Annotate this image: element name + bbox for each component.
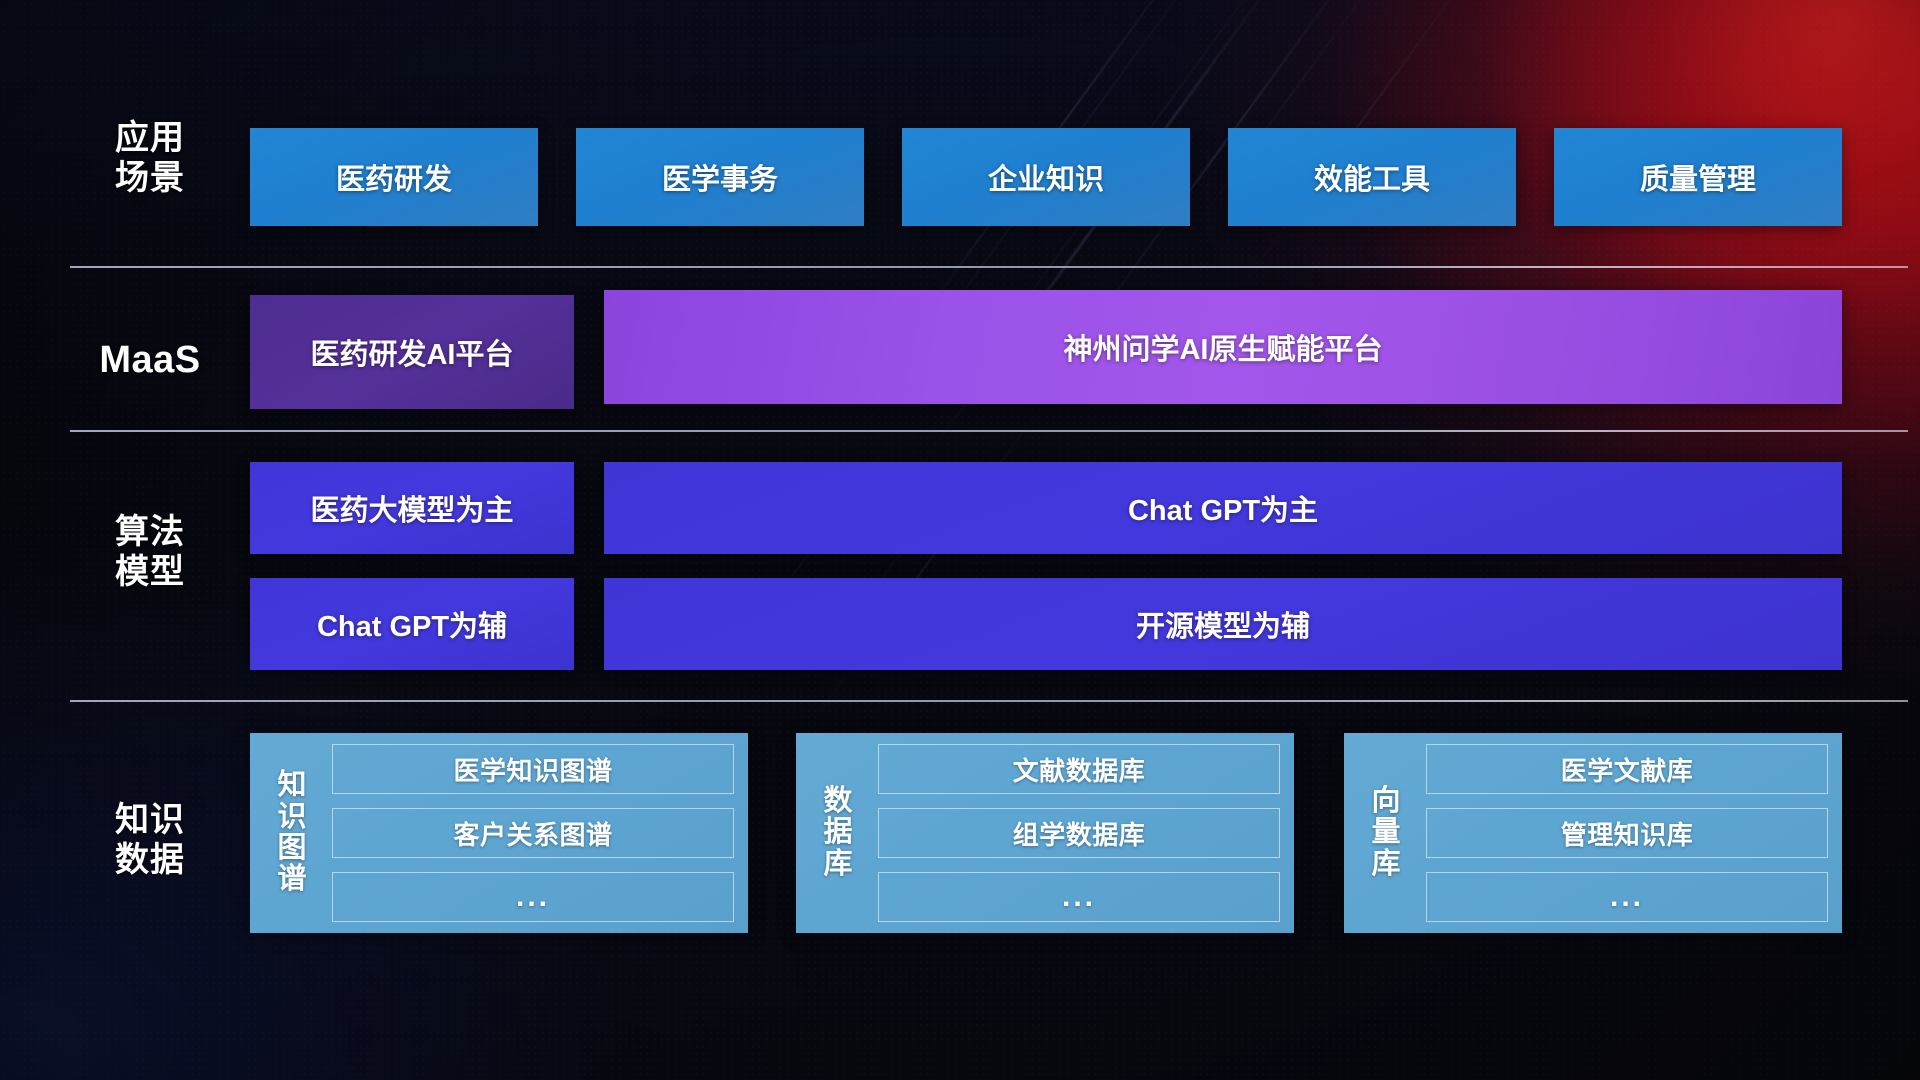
algo-right-box-1[interactable]: Chat GPT为主 bbox=[604, 462, 1842, 554]
knowledge-item-graph-3[interactable]: ... bbox=[332, 872, 734, 922]
knowledge-panel-vector-label: 向量库 bbox=[1358, 786, 1414, 880]
knowledge-panel-vector[interactable]: 向量库 医学文献库 管理知识库 ... bbox=[1344, 733, 1842, 933]
knowledge-panel-database[interactable]: 数据库 文献数据库 组学数据库 ... bbox=[796, 733, 1294, 933]
knowledge-item-database-1[interactable]: 文献数据库 bbox=[878, 744, 1280, 794]
knowledge-item-graph-2[interactable]: 客户关系图谱 bbox=[332, 808, 734, 858]
knowledge-item-database-2[interactable]: 组学数据库 bbox=[878, 808, 1280, 858]
knowledge-item-database-3[interactable]: ... bbox=[878, 872, 1280, 922]
row-label-application: 应用 场景 bbox=[70, 118, 230, 198]
knowledge-item-vector-3[interactable]: ... bbox=[1426, 872, 1828, 922]
knowledge-panel-graph[interactable]: 知识图谱 医学知识图谱 客户关系图谱 ... bbox=[250, 733, 748, 933]
architecture-diagram: 应用 场景 医药研发 医学事务 企业知识 效能工具 质量管理 MaaS 医药研发… bbox=[0, 0, 1920, 1080]
knowledge-panel-graph-label: 知识图谱 bbox=[264, 770, 320, 895]
knowledge-panel-vector-items: 医学文献库 管理知识库 ... bbox=[1426, 744, 1828, 922]
row-label-algorithm: 算法 模型 bbox=[70, 512, 230, 592]
row-label-algorithm-line2: 模型 bbox=[70, 552, 230, 592]
algo-left-box-1[interactable]: 医药大模型为主 bbox=[250, 462, 574, 554]
app-box-3[interactable]: 企业知识 bbox=[902, 128, 1190, 226]
app-box-4[interactable]: 效能工具 bbox=[1228, 128, 1516, 226]
knowledge-item-vector-2[interactable]: 管理知识库 bbox=[1426, 808, 1828, 858]
knowledge-item-graph-1[interactable]: 医学知识图谱 bbox=[332, 744, 734, 794]
knowledge-panel-database-items: 文献数据库 组学数据库 ... bbox=[878, 744, 1280, 922]
app-box-1[interactable]: 医药研发 bbox=[250, 128, 538, 226]
divider-3 bbox=[70, 700, 1908, 702]
knowledge-panel-database-label: 数据库 bbox=[810, 786, 866, 880]
divider-2 bbox=[70, 430, 1908, 432]
row-label-application-line2: 场景 bbox=[70, 158, 230, 198]
row-label-algorithm-line1: 算法 bbox=[70, 512, 230, 552]
row-label-knowledge: 知识 数据 bbox=[70, 800, 230, 880]
row-label-maas: MaaS bbox=[70, 338, 230, 383]
row-label-application-line1: 应用 bbox=[70, 118, 230, 158]
divider-1 bbox=[70, 266, 1908, 268]
maas-platform-box[interactable]: 医药研发AI平台 bbox=[250, 295, 574, 409]
maas-enabling-platform-box[interactable]: 神州问学AI原生赋能平台 bbox=[604, 290, 1842, 404]
algo-right-box-2[interactable]: 开源模型为辅 bbox=[604, 578, 1842, 670]
knowledge-item-vector-1[interactable]: 医学文献库 bbox=[1426, 744, 1828, 794]
row-label-knowledge-line1: 知识 bbox=[70, 800, 230, 840]
row-label-knowledge-line2: 数据 bbox=[70, 840, 230, 880]
knowledge-panel-graph-items: 医学知识图谱 客户关系图谱 ... bbox=[332, 744, 734, 922]
app-box-2[interactable]: 医学事务 bbox=[576, 128, 864, 226]
app-box-5[interactable]: 质量管理 bbox=[1554, 128, 1842, 226]
algo-left-box-2[interactable]: Chat GPT为辅 bbox=[250, 578, 574, 670]
